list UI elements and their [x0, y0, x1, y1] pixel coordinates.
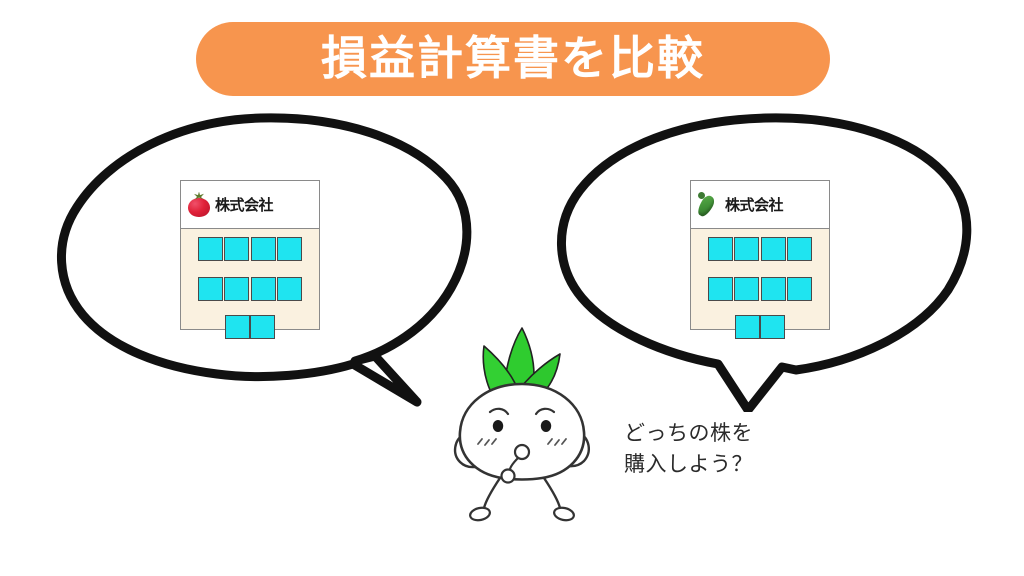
door-panel [760, 315, 785, 339]
company-building-zucchini: 株式会社 [690, 180, 830, 330]
window [761, 277, 786, 301]
door-panel [735, 315, 760, 339]
turnip-leg-left [484, 478, 500, 508]
window [277, 277, 302, 301]
zucchini-icon [697, 191, 723, 219]
company-name-zucchini: 株式会社 [725, 194, 783, 215]
window [787, 277, 812, 301]
turnip-foot-right [553, 506, 575, 522]
caption-line-1: どっちの株を [624, 418, 753, 449]
turnip-mouth [515, 445, 529, 459]
tomato-body [188, 198, 210, 217]
window-row-3 [691, 315, 829, 339]
turnip-eye-left [493, 420, 503, 432]
window [734, 277, 759, 301]
building-sign-tomato: 株式会社 [181, 181, 319, 229]
window [708, 277, 733, 301]
window [734, 237, 759, 261]
turnip-body [460, 384, 584, 480]
building-sign-zucchini: 株式会社 [691, 181, 829, 229]
caption-line-2: 購入しよう？ [624, 449, 753, 480]
door-panel [225, 315, 250, 339]
window-row-2 [181, 277, 319, 301]
title-banner: 損益計算書を比較 [196, 22, 830, 96]
window-row-2 [691, 277, 829, 301]
window [198, 237, 223, 261]
slide-canvas: 損益計算書を比較 株式会社 [0, 0, 1024, 576]
window [251, 277, 276, 301]
window-row-3 [181, 315, 319, 339]
page-title: 損益計算書を比較 [321, 35, 705, 81]
window-row-1 [691, 237, 829, 261]
window [761, 237, 786, 261]
tomato-icon [187, 191, 213, 219]
turnip-leg-right [544, 478, 560, 508]
turnip-character [438, 322, 606, 530]
turnip-foot-left [469, 506, 491, 522]
window [708, 237, 733, 261]
building-door [735, 315, 785, 339]
company-building-tomato: 株式会社 [180, 180, 320, 330]
window [251, 237, 276, 261]
window [224, 237, 249, 261]
turnip-hand [502, 470, 515, 483]
door-panel [250, 315, 275, 339]
window [277, 237, 302, 261]
window [224, 277, 249, 301]
window [787, 237, 812, 261]
window [198, 277, 223, 301]
company-name-tomato: 株式会社 [215, 194, 273, 215]
window-row-1 [181, 237, 319, 261]
building-door [225, 315, 275, 339]
turnip-eye-right [541, 420, 551, 432]
caption-text: どっちの株を 購入しよう？ [624, 418, 753, 480]
